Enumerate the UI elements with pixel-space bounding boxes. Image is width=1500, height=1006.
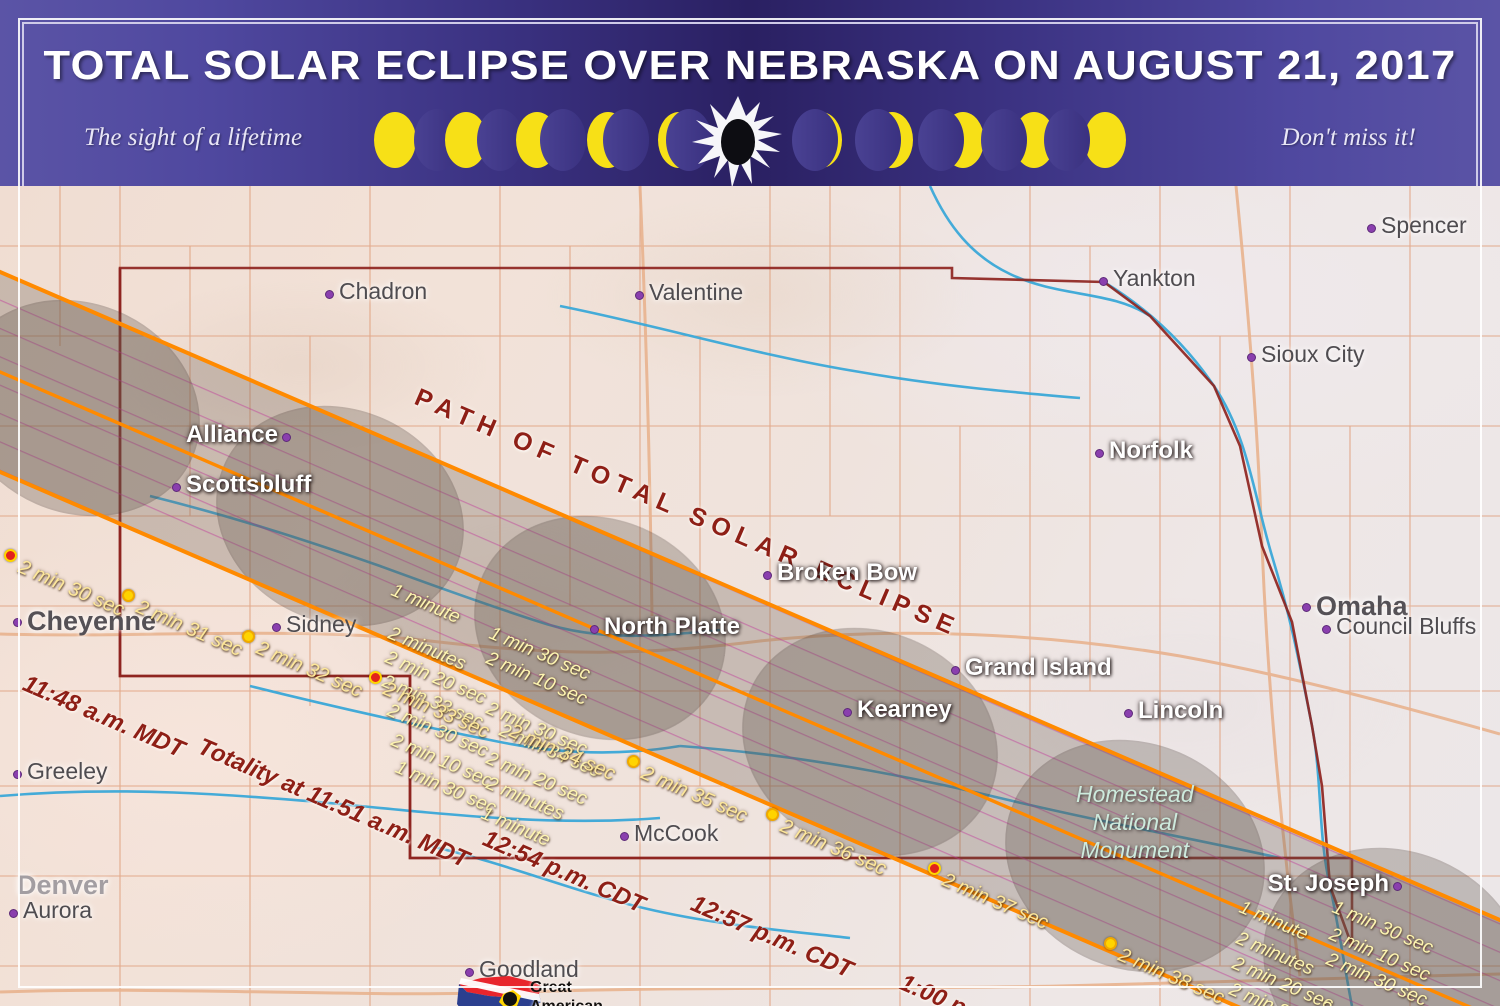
city-name: Scottsbluff (186, 471, 311, 499)
city-dot (763, 571, 772, 580)
city-name: Spencer (1381, 212, 1467, 239)
city-dot (282, 433, 291, 442)
eclipse-phase-3 (516, 112, 558, 168)
eclipse-phase-4 (587, 112, 629, 168)
totality-corona-icon (688, 94, 788, 186)
city-dot (1367, 224, 1376, 233)
park-line-2: National (1076, 808, 1194, 836)
city-dot (1095, 449, 1104, 458)
city-name: Greeley (27, 758, 108, 785)
eclipse-phase-9 (942, 112, 984, 168)
homestead-national-monument-label: Homestead National Monument (1076, 780, 1194, 864)
city-dot (1124, 709, 1133, 718)
map-canvas: PATH OF TOTAL SOLAR ECLIPSE Homestead Na… (0, 186, 1500, 1006)
phase-shadow (603, 109, 649, 171)
city-name: Lincoln (1138, 697, 1223, 725)
centerline-marker (122, 589, 135, 602)
tagline-left: The sight of a lifetime (84, 124, 302, 152)
city-dot (843, 708, 852, 717)
centerline-marker (928, 862, 941, 875)
poster-header: TOTAL SOLAR ECLIPSE OVER NEBRASKA ON AUG… (0, 0, 1500, 186)
eclipse-phase-11 (1084, 112, 1126, 168)
eclipse-map-poster: TOTAL SOLAR ECLIPSE OVER NEBRASKA ON AUG… (0, 0, 1500, 1006)
centerline-marker (369, 671, 382, 684)
great-american-eclipse-logo[interactable]: Great American Eclipse.com (455, 972, 615, 1006)
city-dot (13, 618, 22, 627)
city-dot (272, 623, 281, 632)
centerline-marker (766, 808, 779, 821)
centerline-marker (4, 549, 17, 562)
logo-line-2: American (530, 997, 623, 1006)
city-name: Alliance (186, 421, 278, 449)
city-dot (620, 832, 629, 841)
city-name: St. Joseph (1268, 870, 1389, 898)
centerline-marker (1104, 937, 1117, 950)
eclipse-phase-2 (445, 112, 487, 168)
phase-shadow (981, 109, 1027, 171)
phase-shadow (918, 109, 964, 171)
phase-shadow (792, 109, 838, 171)
city-dot (9, 909, 18, 918)
park-line-3: Monument (1076, 836, 1194, 864)
city-name: Yankton (1113, 265, 1196, 292)
city-name: Grand Island (965, 654, 1112, 682)
city-dot (590, 625, 599, 634)
eclipse-phase-8 (871, 112, 913, 168)
tagline-right: Don't miss it! (1281, 124, 1416, 152)
city-name: Chadron (339, 278, 427, 305)
city-dot (325, 290, 334, 299)
city-name: Valentine (649, 279, 743, 306)
city-name: Aurora (23, 897, 92, 924)
city-name: Council Bluffs (1336, 613, 1476, 640)
eclipse-phase-sequence (395, 112, 1105, 176)
phase-disc (374, 112, 416, 168)
centerline-marker (627, 755, 640, 768)
city-name: Kearney (857, 696, 952, 724)
logo-text: Great American Eclipse.com (530, 978, 623, 1006)
city-name: Norfolk (1109, 437, 1193, 465)
city-dot (1302, 603, 1311, 612)
city-dot (1247, 353, 1256, 362)
city-name: McCook (634, 820, 718, 847)
centerline-marker (242, 630, 255, 643)
city-name: Broken Bow (777, 559, 917, 587)
logo-line-1: Great (530, 978, 623, 997)
city-dot (13, 770, 22, 779)
eclipse-phase-1 (374, 112, 416, 168)
city-dot (1099, 277, 1108, 286)
city-name: Sidney (286, 611, 356, 638)
page-title: TOTAL SOLAR ECLIPSE OVER NEBRASKA ON AUG… (0, 42, 1500, 89)
city-dot (1322, 625, 1331, 634)
city-dot (951, 666, 960, 675)
phase-disc (1084, 112, 1126, 168)
city-dot (635, 291, 644, 300)
city-name: North Platte (604, 613, 740, 641)
park-line-1: Homestead (1076, 780, 1194, 808)
phase-shadow (855, 109, 901, 171)
phase-shadow (1044, 109, 1090, 171)
eclipse-phase-7 (800, 112, 842, 168)
city-dot (172, 483, 181, 492)
city-dot (1393, 882, 1402, 891)
city-name: Sioux City (1261, 341, 1365, 368)
phase-shadow (540, 109, 586, 171)
